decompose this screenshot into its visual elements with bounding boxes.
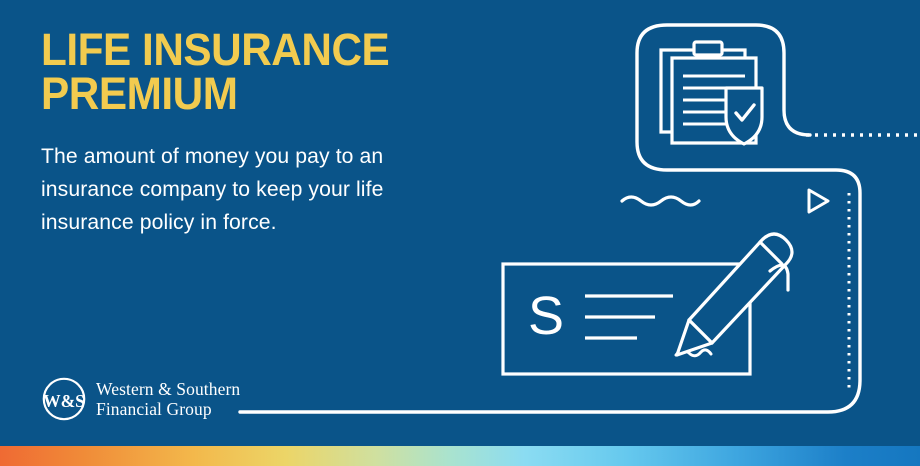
ws-monogram-icon: W&S — [41, 376, 87, 422]
check-currency-symbol: S — [528, 286, 564, 346]
shield-checkmark — [736, 105, 754, 120]
check-outline — [503, 264, 750, 374]
definition-text: The amount of money you pay to an insura… — [41, 116, 465, 238]
pen-clip — [770, 265, 788, 290]
shield-check-icon — [726, 88, 762, 144]
page-title: LIFE INSURANCE PREMIUM — [41, 28, 445, 116]
clipboard-clip — [694, 42, 722, 55]
play-triangle-icon — [809, 190, 828, 212]
western-southern-logo: W&S Western & Southern Financial Group — [41, 376, 240, 422]
logo-monogram-text: W&S — [43, 391, 85, 411]
clipboard-text-lines — [683, 76, 745, 124]
pen-icon — [677, 234, 792, 355]
bank-check-icon: S — [503, 264, 750, 374]
life-insurance-premium-banner: S LIFE INSURANCE PREMIUM The amount of m… — [0, 0, 920, 466]
pen-barrel — [689, 234, 792, 343]
clipboard-page — [672, 58, 756, 143]
clipboard-with-shield-icon — [661, 42, 762, 144]
text-block: LIFE INSURANCE PREMIUM The amount of mon… — [41, 28, 471, 238]
logo-wordmark: Western & Southern Financial Group — [96, 379, 240, 420]
pen-cap-band — [760, 242, 782, 264]
bottom-gradient-bar — [0, 446, 920, 466]
squiggle-icon — [622, 197, 699, 205]
check-signature-squiggle — [676, 350, 711, 356]
pen-nib — [677, 320, 712, 355]
clipboard-back-plate — [661, 50, 745, 132]
check-amount-lines — [585, 296, 673, 338]
